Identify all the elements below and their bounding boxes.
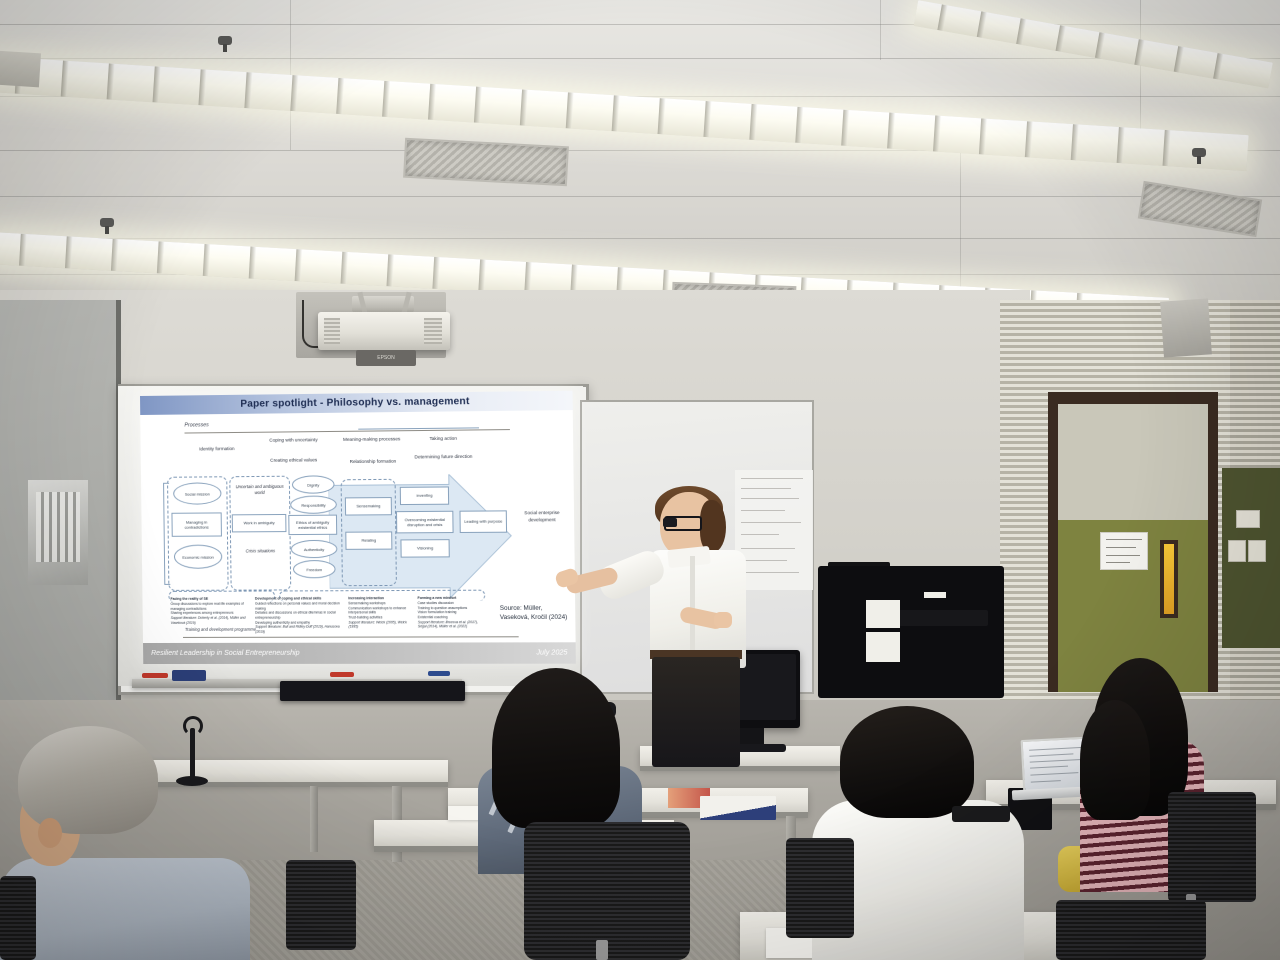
block-bullet: Trust-building activities (348, 615, 382, 619)
presenter-hand (714, 612, 732, 628)
corridor-poster (1100, 532, 1148, 570)
block-bullet: Training to question assumptions (418, 605, 468, 609)
notebook-on-desk (700, 796, 776, 820)
label-crisis-situations: Crisis situations (236, 548, 285, 554)
projector-brand-plate: EPSON (356, 350, 416, 366)
label-social-enterprise-development: Social enterprise development (515, 510, 569, 524)
hvac-diffuser-3 (1138, 181, 1262, 237)
training-programme-label: Training and development programme (185, 627, 256, 632)
attendee-3-hair (840, 706, 974, 818)
slide-title: Paper spotlight - Philosophy vs. managem… (240, 396, 469, 410)
block-bullet: Sensemaking workshops (348, 601, 385, 605)
box-overcoming-existential-disruption: Overcoming existential disruption and cr… (396, 511, 454, 534)
box-relating: Relating (345, 531, 392, 549)
bench-leg-2 (310, 786, 318, 852)
block-bullet: Existential coaching (418, 615, 448, 619)
block-facing-reality: Facing the reality of SE Group discussio… (170, 597, 249, 626)
block-bullet: Debates and discussions on ethical dilem… (255, 611, 336, 620)
hvac-diffuser-1 (403, 138, 569, 187)
label-uncertain-ambiguous-world: Uncertain and ambiguous world (233, 484, 286, 496)
ceiling (0, 0, 1280, 300)
presenter-trousers (652, 657, 740, 767)
sprinkler-head-2 (100, 218, 114, 227)
sprinkler-head-1 (218, 36, 232, 45)
ceiling-light-fixture-3 (914, 0, 1273, 88)
marker-red-2[interactable] (330, 672, 354, 677)
chair-left-back[interactable] (286, 860, 356, 950)
whiteboard-notes (735, 470, 813, 590)
microphone-base-1 (176, 776, 208, 786)
marker-red-1[interactable] (142, 673, 168, 678)
chair-foreground-left[interactable] (0, 876, 36, 960)
block-support: Support literature: Doherty et al. (2014… (171, 616, 246, 625)
box-managing-contradictions: Managing in contradictions (171, 512, 221, 536)
header-identity-formation: Identity formation (181, 446, 253, 453)
block-support: Support literature: Bull and Ridley-Duff… (255, 625, 339, 634)
projected-slide: Paper spotlight - Philosophy vs. managem… (140, 391, 576, 664)
marker-blue[interactable] (428, 671, 450, 676)
projector-vent-left (324, 318, 340, 344)
block-heading: Increasing interaction (348, 596, 384, 600)
ceiling-light-fixture-1 (0, 56, 1249, 171)
rack-label-3 (924, 592, 946, 598)
block-bullet: Case studies discussion (418, 601, 454, 605)
block-bullet: Guided reflections on personal values an… (255, 601, 340, 610)
block-bullet: Group discussions to explore real-life e… (171, 601, 244, 610)
block-support: Support literature: Brocova et al. (2017… (418, 620, 478, 629)
classroom-photo: Paper spotlight - Philosophy vs. managem… (0, 0, 1280, 960)
chair-front-right[interactable] (786, 838, 854, 938)
microphone-clip-1 (183, 716, 203, 736)
header-creating-ethical-values: Creating ethical values (255, 457, 332, 464)
presenter-glasses-lens (663, 518, 677, 527)
chair-post-mid (596, 940, 608, 960)
attendee-1-shirt (0, 858, 250, 960)
chair-right[interactable] (1168, 792, 1256, 902)
chair-arm-right[interactable] (952, 806, 1010, 822)
block-heading: Facing the reality of SE (170, 597, 208, 601)
presenter-hair-side (700, 500, 726, 552)
footer-title: Resilient Leadership in Social Entrepren… (151, 650, 300, 657)
box-work-in-ambiguity: Work in ambiguity (232, 514, 287, 532)
box-leading-with-purpose: Leading with purpose (459, 510, 507, 533)
oval-economic-mission: Economic mission (174, 545, 222, 569)
processes-label: Processes (184, 422, 208, 428)
rack-label-2 (866, 632, 900, 662)
oval-freedom: Freedom (293, 560, 336, 578)
box-visioning: Visioning (400, 539, 449, 557)
whiteboard-eraser[interactable] (172, 670, 206, 681)
block-increasing-interaction: Increasing interaction Sensemaking works… (348, 596, 414, 629)
chair-back-foreground[interactable] (1056, 900, 1206, 960)
block-heading: Development of coping and ethical skills (255, 596, 321, 600)
bracket-left (163, 483, 170, 585)
attendee-1-hair (18, 726, 158, 834)
amber-light-strip (1164, 544, 1174, 614)
green-notice-panel (1222, 468, 1280, 648)
projector-brand-label: EPSON (377, 355, 395, 361)
block-bullet: Sharing experiences among entrepreneurs (171, 611, 234, 615)
block-development-coping: Development of coping and ethical skills… (255, 596, 343, 634)
wall-speaker (1160, 298, 1212, 357)
rack-label-1 (866, 600, 900, 628)
soundbar (280, 681, 465, 701)
block-bullet: Vision formulation training (418, 610, 457, 614)
box-ethics-of-ambiguity: Ethics of ambiguity existential ethics (288, 515, 337, 535)
projector-vent-right (424, 318, 442, 344)
footer-date: July 2025 (536, 649, 567, 656)
av-equipment-rack (818, 566, 1004, 698)
block-bullet: Developing authenticity and empathy (255, 620, 310, 624)
block-heading: Forming a new mindset (417, 596, 456, 600)
slide-body: Processes Identity formation Coping with… (140, 410, 575, 643)
header-coping-uncertainty: Coping with uncertainty (255, 437, 332, 444)
box-sensemaking: Sensemaking (345, 497, 392, 516)
attendee-1-ear (38, 818, 62, 848)
source-citation: Source: Müller, Vaseková, Kročil (2024) (500, 604, 570, 623)
slide-footer: Resilient Leadership in Social Entrepren… (143, 642, 576, 664)
attendee-4-hair-front (1080, 700, 1150, 820)
block-forming-new-mindset: Forming a new mindset Case studies discu… (417, 596, 481, 629)
attendee-2-hair (492, 668, 620, 828)
box-inventing: Inventing (400, 486, 449, 505)
window-reflection-detail (36, 492, 80, 562)
sprinkler-head-3 (1192, 148, 1206, 157)
block-support: Support literature: Weick (2005), Weick … (348, 620, 406, 629)
block-bullet: Communication workshops to enhance inter… (348, 606, 406, 615)
